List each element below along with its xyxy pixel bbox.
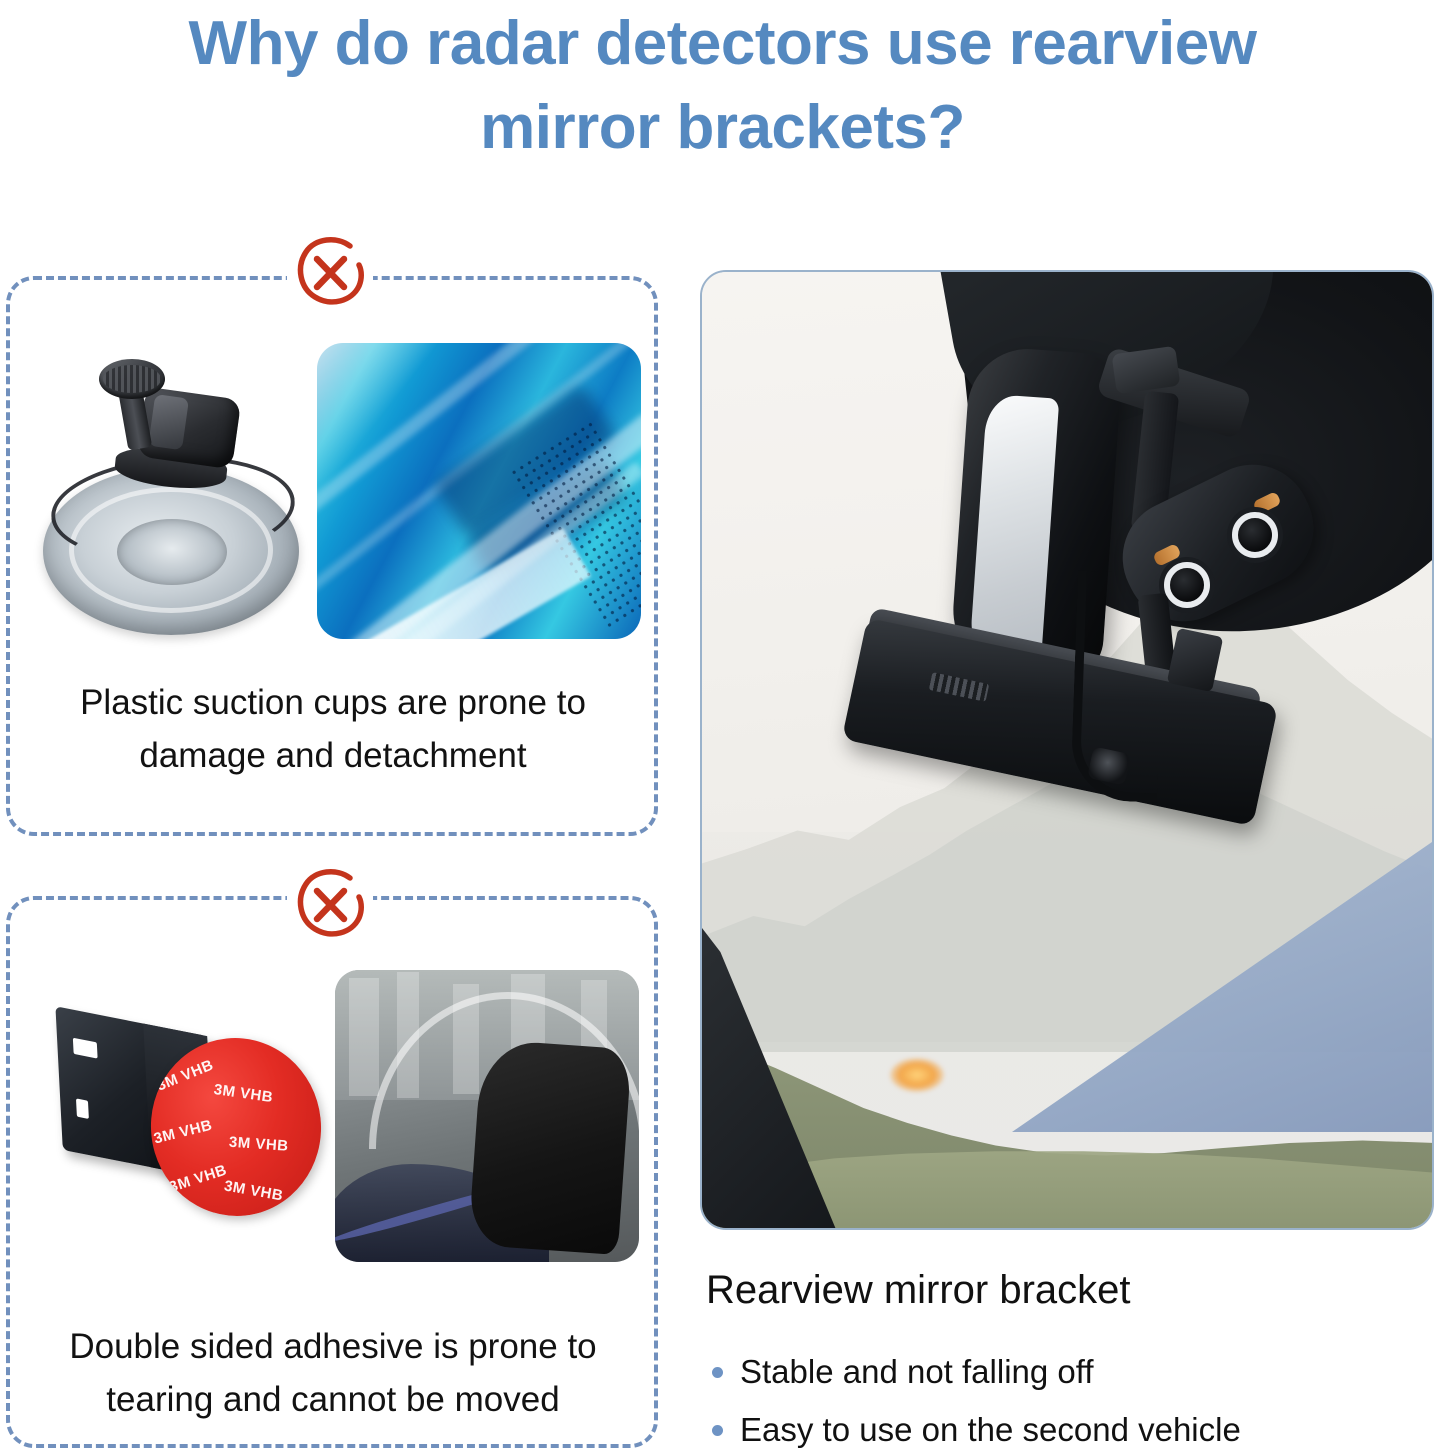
x-circle-icon xyxy=(287,230,373,316)
hero-bullet-label: Easy to use on the second vehicle xyxy=(740,1411,1241,1448)
bracket-slot xyxy=(76,1098,89,1119)
adhesive-bracket-photo: 3M VHB 3M VHB 3M VHB 3M VHB 3M VHB 3M VH… xyxy=(43,966,329,1266)
rearview-mirror-bracket-photo xyxy=(700,270,1434,1230)
suction-cup-ball-joint xyxy=(137,387,242,470)
bracket-pivot-hole xyxy=(1232,512,1278,558)
bullet-dot-icon xyxy=(712,1425,723,1436)
negative-card-1-caption: Plastic suction cups are prone to damage… xyxy=(26,676,640,782)
building-silhouette xyxy=(349,978,379,1096)
suction-cup-knob xyxy=(99,359,165,399)
hero-caption-title: Rearview mirror bracket xyxy=(706,1266,1426,1314)
windshield-mount-photo xyxy=(335,970,639,1262)
negative-card-2-caption: Double sided adhesive is prone to tearin… xyxy=(16,1320,650,1426)
bullet-dot-icon xyxy=(712,1367,723,1378)
hero-bullet-label: Stable and not falling off xyxy=(740,1353,1094,1390)
vhb-pad-label: 3M VHB xyxy=(213,1081,274,1106)
x-circle-icon xyxy=(287,862,373,948)
page-title-line-1: Why do radar detectors use rearview xyxy=(0,2,1445,86)
bracket-slot xyxy=(73,1038,98,1059)
page-title: Why do radar detectors use rearview mirr… xyxy=(0,2,1445,170)
vhb-pad-label: 3M VHB xyxy=(152,1117,214,1148)
sun-glow xyxy=(890,1058,944,1092)
negative-card-1-images xyxy=(6,330,658,652)
bracket-pivot-hole xyxy=(1164,562,1210,608)
vhb-pad-label: 3M VHB xyxy=(167,1161,229,1196)
hero-bullet-item: Easy to use on the second vehicle xyxy=(706,1410,1430,1450)
hero-bullet-item: Stable and not falling off xyxy=(706,1352,1430,1392)
vhb-pad-label: 3M VHB xyxy=(228,1134,289,1155)
suction-cup-mount-photo xyxy=(37,341,305,641)
cracked-glass-photo xyxy=(317,343,641,639)
page-title-line-2: mirror brackets? xyxy=(0,86,1445,170)
mirror-silhouette xyxy=(468,1039,632,1255)
vhb-pad-label: 3M VHB xyxy=(223,1177,285,1204)
negative-card-2-images: 3M VHB 3M VHB 3M VHB 3M VHB 3M VHB 3M VH… xyxy=(6,960,658,1272)
